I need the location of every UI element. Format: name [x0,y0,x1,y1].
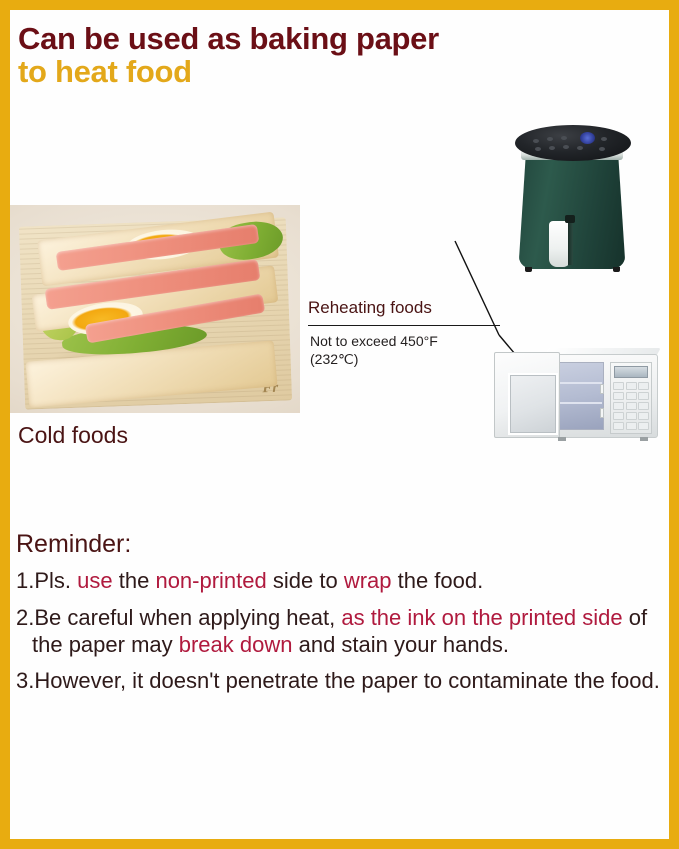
microwave-display [614,366,648,378]
reminder-highlight-text: non-printed [155,568,266,593]
microwave-rack-1 [556,382,602,384]
microwave-key [613,402,624,410]
reminder-item-number: 1. [16,568,34,593]
microwave-key [613,422,624,430]
reminder-plain-text: the [113,568,156,593]
air-fryer-handle [565,215,575,223]
reminder-item-2: 2.Be careful when applying heat, as the … [16,605,664,659]
air-fryer-button-9 [599,147,605,151]
microwave-key [626,422,637,430]
microwave-key [626,412,637,420]
callout-subtext-line-1: Not to exceed 450°F [310,332,500,350]
reminder-plain-text: Be careful when applying heat, [34,605,341,630]
microwave-key [613,382,624,390]
reminder-highlight-text: as the ink on the printed side [341,605,622,630]
reheating-callout: Reheating foods [308,298,488,322]
air-fryer-button-1 [533,139,539,143]
microwave-key [638,422,649,430]
microwave-latch-upper [600,384,604,394]
microwave-key [626,402,637,410]
callout-title: Reheating foods [308,298,488,322]
microwave-key [626,392,637,400]
title-line-1: Can be used as baking paper [18,22,658,55]
air-fryer-photo [505,113,645,278]
reminder-highlight-text: use [77,568,112,593]
page-title: Can be used as baking paper to heat food [18,22,658,89]
microwave-cavity [554,362,604,430]
title-line-2: to heat food [18,55,658,88]
air-fryer-button-7 [563,145,569,149]
callout-subtext-line-2: (232℃) [310,350,500,368]
sandwich-photo: miel Croissants Fr [10,205,300,413]
reminder-item-number: 2. [16,605,34,630]
reminder-item-3: 3.However, it doesn't penetrate the pape… [16,668,664,695]
microwave-foot-right [640,437,648,441]
microwave-keypad [613,382,649,430]
reminder-plain-text: and stain your hands. [293,632,509,657]
microwave-door-window [508,373,558,435]
microwave-key [638,392,649,400]
air-fryer-button-6 [549,146,555,150]
reminder-section: Reminder: 1.Pls. use the non-printed sid… [16,530,664,695]
microwave-key [638,382,649,390]
reminder-plain-text: the food. [392,568,484,593]
air-fryer-control-panel [515,125,631,161]
microwave-rack-2 [556,402,602,404]
cold-foods-label: Cold foods [18,422,128,449]
microwave-photo [488,340,663,445]
poster-canvas: Can be used as baking paper to heat food… [10,10,669,839]
reminder-item-number: 3. [16,668,34,693]
air-fryer-handle-stem [568,221,573,265]
air-fryer-display-icon [580,132,595,144]
air-fryer-button-5 [535,147,541,151]
reminder-item-1: 1.Pls. use the non-printed side to wrap … [16,568,664,595]
air-fryer-button-8 [577,146,583,150]
air-fryer-foot-right [613,267,620,272]
microwave-key [638,412,649,420]
microwave-latch-lower [600,408,604,418]
air-fryer-foot-left [525,267,532,272]
reminder-highlight-text: wrap [344,568,392,593]
microwave-door [494,352,560,438]
air-fryer-button-2 [547,137,553,141]
reminder-plain-text: However, it doesn't penetrate the paper … [34,668,660,693]
microwave-key [638,402,649,410]
air-fryer-button-3 [561,136,567,140]
reminder-plain-text: side to [267,568,344,593]
reminder-heading: Reminder: [16,530,664,558]
reminder-highlight-text: break down [179,632,293,657]
microwave-key [613,412,624,420]
infographic-poster: Can be used as baking paper to heat food… [0,0,679,849]
microwave-key [626,382,637,390]
callout-divider-line [308,325,500,326]
reminder-plain-text: Pls. [34,568,77,593]
microwave-foot-left [558,437,566,441]
callout-subtext: Not to exceed 450°F (232℃) [310,332,500,369]
air-fryer-button-4 [601,137,607,141]
microwave-key [613,392,624,400]
